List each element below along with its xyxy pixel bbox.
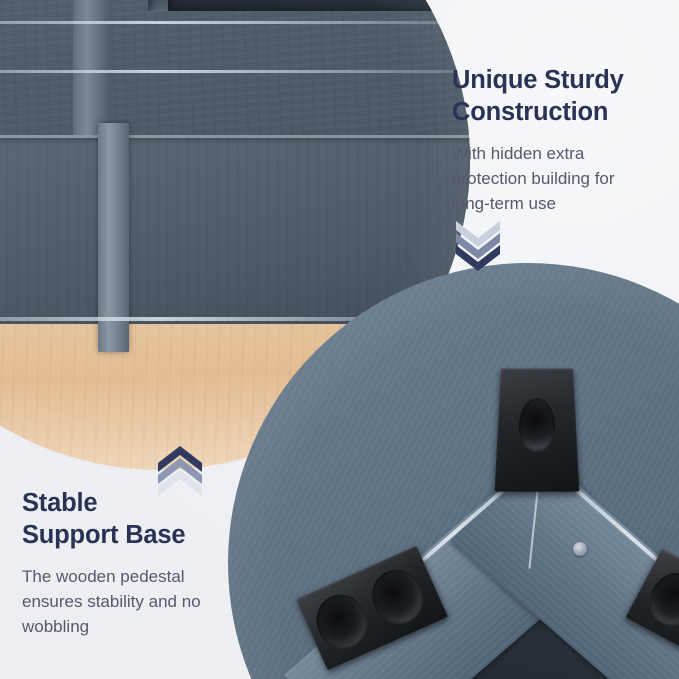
feature-block-stable-support-base: Stable Support Base The wooden pedestal … xyxy=(22,487,247,639)
chevron-down-stack-icon xyxy=(450,219,506,271)
feature-subtext: The wooden pedestal ensures stability an… xyxy=(22,565,247,639)
cabinet-recessed-panel xyxy=(148,0,470,11)
bracket-screw-hole xyxy=(308,587,376,657)
feature-headline: Unique Sturdy Construction xyxy=(452,64,664,128)
bracket-screw-hole xyxy=(518,398,555,454)
corner-bracket-top xyxy=(494,368,579,491)
feature-headline: Stable Support Base xyxy=(22,487,247,551)
feature-subtext: With hidden extra protection building fo… xyxy=(452,142,664,216)
bracket-screw-hole xyxy=(364,562,432,632)
cabinet-seam-highlight xyxy=(0,70,470,73)
metal-cam-fitting xyxy=(573,542,587,556)
cabinet-seam-highlight xyxy=(0,21,470,24)
feature-block-unique-sturdy-construction: Unique Sturdy Construction With hidden e… xyxy=(452,64,664,216)
pedestal-corner-photo xyxy=(228,263,679,679)
product-feature-infographic: Unique Sturdy Construction With hidden e… xyxy=(0,0,679,679)
